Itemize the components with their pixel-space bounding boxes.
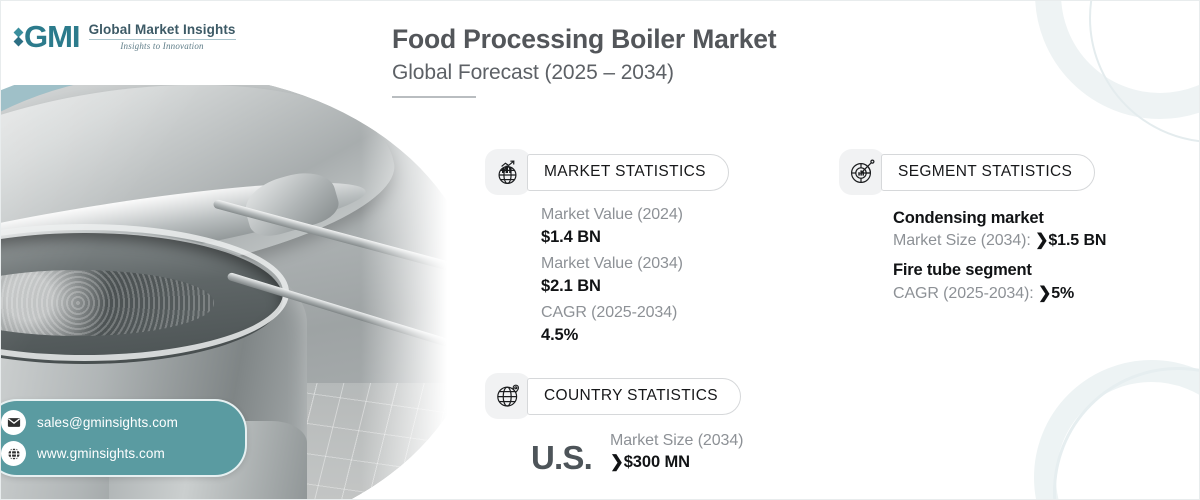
contact-website: www.gminsights.com (37, 446, 165, 461)
page-title: Food Processing Boiler Market (392, 24, 776, 54)
contact-badge: sales@gminsights.com www.gminsights.com (0, 399, 247, 477)
country-statistics-header: COUNTRY STATISTICS (485, 373, 743, 419)
segment-statistics-header: SEGMENT STATISTICS (839, 149, 1106, 195)
segment-statistics-label: SEGMENT STATISTICS (881, 154, 1095, 191)
country-market-size-label: Market Size (2034) (610, 431, 743, 451)
segment-condensing-metric-value: ❯$1.5 BN (1035, 232, 1106, 249)
decorative-arc-bottom-right (1034, 360, 1200, 500)
logo-divider (89, 39, 236, 40)
segment-firetube-metric: CAGR (2025-2034): ❯5% (893, 283, 1106, 305)
gmi-logo[interactable]: GMI Global Market Insights Insights to I… (15, 21, 236, 52)
country-statistics-panel: COUNTRY STATISTICS U.S. Market Size (203… (485, 373, 743, 474)
title-underline (392, 96, 476, 98)
country-statistics-label: COUNTRY STATISTICS (527, 378, 741, 415)
market-cagr-value: 4.5% (541, 324, 729, 346)
contact-website-row[interactable]: www.gminsights.com (1, 441, 227, 466)
segment-firetube-metric-label: CAGR (2025-2034): (893, 285, 1038, 302)
segment-condensing-metric: Market Size (2034): ❯$1.5 BN (893, 230, 1106, 252)
country-code: U.S. (531, 441, 592, 474)
logo-company-name: Global Market Insights (89, 23, 236, 38)
segment-condensing-metric-label: Market Size (2034): (893, 232, 1035, 249)
market-value-2024-value: $1.4 BN (541, 226, 729, 248)
segment-statistics-panel: SEGMENT STATISTICS Condensing market Mar… (839, 149, 1106, 305)
logo-initials: GMI (24, 21, 80, 52)
pie-chart-target-icon (839, 149, 885, 195)
decorative-arc-top-right (1035, 0, 1200, 119)
decorative-arc-bottom-right-outline (1053, 367, 1200, 500)
envelope-icon (1, 410, 26, 435)
logo-tagline: Insights to Innovation (89, 41, 236, 51)
contact-email: sales@gminsights.com (37, 415, 178, 430)
gmi-diamond-icon (15, 29, 22, 45)
segment-firetube-metric-value: ❯5% (1038, 285, 1074, 302)
page-subtitle: Global Forecast (2025 – 2034) (392, 61, 776, 85)
country-statistics-body: U.S. Market Size (2034) ❯$300 MN (485, 431, 743, 474)
segment-statistics-list: Condensing market Market Size (2034): ❯$… (839, 207, 1106, 305)
headline-block: Food Processing Boiler Market Global For… (392, 24, 776, 98)
market-statistics-header: MARKET STATISTICS (485, 149, 729, 195)
segment-firetube-name: Fire tube segment (893, 259, 1106, 282)
logo-mark: GMI (15, 21, 80, 52)
market-cagr-label: CAGR (2025-2034) (541, 303, 729, 324)
contact-email-row[interactable]: sales@gminsights.com (1, 410, 227, 435)
market-statistics-panel: MARKET STATISTICS Market Value (2024) $1… (485, 149, 729, 346)
decorative-arc-top-right-outline (1089, 0, 1200, 143)
market-value-2034-value: $2.1 BN (541, 275, 729, 297)
infographic-canvas: GMI Global Market Insights Insights to I… (0, 0, 1200, 500)
market-value-2034-label: Market Value (2034) (541, 254, 729, 275)
globe-pin-icon (485, 373, 531, 419)
globe-growth-chart-icon (485, 149, 531, 195)
country-metric: Market Size (2034) ❯$300 MN (610, 431, 743, 474)
logo-wordmark: Global Market Insights Insights to Innov… (89, 22, 236, 52)
country-market-size-value: ❯$300 MN (610, 451, 743, 473)
globe-icon (1, 441, 26, 466)
market-statistics-list: Market Value (2024) $1.4 BN Market Value… (485, 205, 729, 346)
segment-condensing-name: Condensing market (893, 207, 1106, 230)
market-value-2024-label: Market Value (2024) (541, 205, 729, 226)
market-statistics-label: MARKET STATISTICS (527, 154, 729, 191)
